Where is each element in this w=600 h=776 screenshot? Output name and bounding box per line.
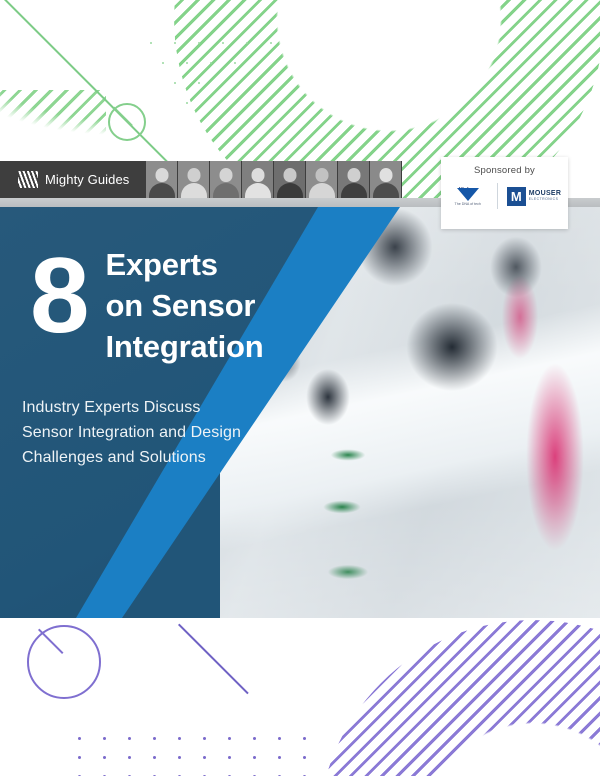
expert-headshot-strip xyxy=(146,161,402,198)
document-cover-page: Mighty Guides Sponsored by Vishay The DN… xyxy=(0,0,600,776)
mouser-mark-icon: M xyxy=(507,187,526,206)
expert-headshot xyxy=(178,161,210,198)
vishay-triangle-icon xyxy=(457,188,479,201)
green-circle-outline-icon xyxy=(108,103,146,141)
brand-name: Mighty Guides xyxy=(45,172,129,187)
expert-headshot xyxy=(370,161,402,198)
cover-title-block: 8 Experts on Sensor Integration xyxy=(30,244,263,367)
purple-circle-tick-icon xyxy=(38,629,63,654)
sponsor-label: Sponsored by xyxy=(474,165,535,176)
subtitle-line-3: Challenges and Solutions xyxy=(22,445,241,470)
cover-hero: 8 Experts on Sensor Integration Industry… xyxy=(0,207,600,618)
sponsor-divider xyxy=(497,183,498,209)
vishay-tagline: The DNA of tech xyxy=(455,202,481,206)
mouser-subtitle: ELECTRONICS xyxy=(529,198,562,201)
vishay-logo[interactable]: Vishay The DNA of tech xyxy=(448,187,488,206)
mouser-logo[interactable]: M MOUSER ELECTRONICS xyxy=(507,187,562,206)
title-line-1: Experts xyxy=(106,244,264,285)
green-hatched-wedge-icon xyxy=(0,90,106,170)
cover-subtitle: Industry Experts Discuss Sensor Integrat… xyxy=(22,395,241,470)
expert-headshot xyxy=(306,161,338,198)
title-line-3: Integration xyxy=(106,326,264,367)
expert-headshot xyxy=(338,161,370,198)
expert-headshot xyxy=(146,161,178,198)
page-title: Experts on Sensor Integration xyxy=(106,244,264,367)
expert-headshot xyxy=(242,161,274,198)
subtitle-line-2: Sensor Integration and Design xyxy=(22,420,241,445)
purple-hatched-arc-icon xyxy=(318,620,600,776)
purple-circle-outline-icon xyxy=(27,625,101,699)
brand-header-bar: Mighty Guides xyxy=(0,161,378,198)
expert-count-number: 8 xyxy=(30,248,88,343)
expert-headshot xyxy=(210,161,242,198)
subtitle-line-1: Industry Experts Discuss xyxy=(22,395,241,420)
expert-headshot xyxy=(274,161,306,198)
sponsor-logo-row: Vishay The DNA of tech M MOUSER ELECTRON… xyxy=(448,183,562,209)
purple-diagonal-line-icon xyxy=(178,624,249,695)
mouser-name: MOUSER xyxy=(529,190,562,197)
green-circle-tick-icon xyxy=(113,107,133,127)
mighty-guides-mark-icon xyxy=(18,171,38,188)
title-line-2: on Sensor xyxy=(106,285,264,326)
brand-logo[interactable]: Mighty Guides xyxy=(0,171,128,188)
sponsor-card: Sponsored by Vishay The DNA of tech M MO… xyxy=(441,157,568,229)
